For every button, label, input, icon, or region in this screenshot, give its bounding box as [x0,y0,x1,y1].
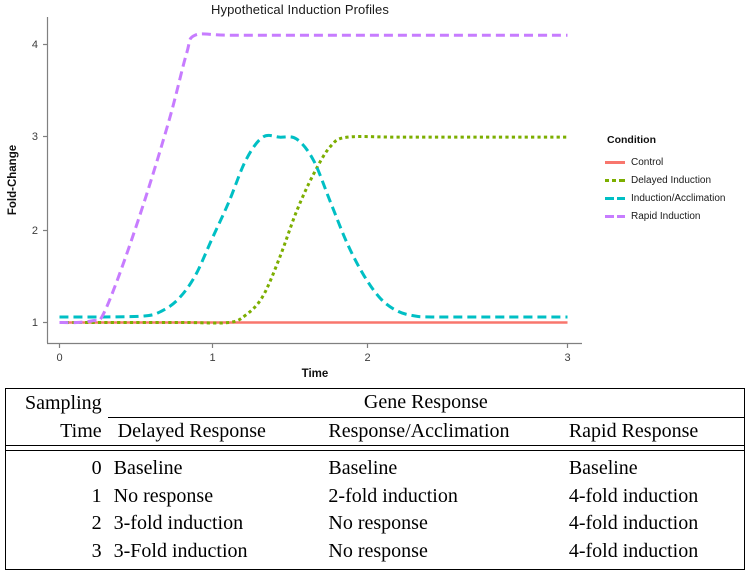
line-chart: 4 3 2 1 0 1 2 3 Time Fold-Change [0,0,600,382]
cell-time: 1 [6,483,108,511]
cell-delayed-response: Baseline [108,451,323,483]
y-tick-label-2: 2 [32,225,38,237]
table-row: 1 No response 2-fold induction 4-fold in… [6,483,745,511]
table-header-row-top: Sampling Gene Response [6,389,745,418]
series-line-rapid-induction [60,34,568,323]
cell-response-acclimation: No response [322,510,562,538]
legend-label-rapid-induction: Rapid Induction [631,211,701,222]
figure-panel: Hypothetical Induction Profiles 4 3 2 1 … [0,0,750,382]
gene-response-table: Sampling Gene Response Time Delayed Resp… [5,388,745,570]
series-line-delayed-induction [60,136,568,323]
y-tick-label-1: 1 [32,317,38,329]
series-layer [60,34,568,323]
table-row: 2 3-fold induction No response 4-fold in… [6,510,745,538]
column-header-rapid-response: Rapid Response [563,417,745,446]
x-tick-label-0: 0 [56,352,62,364]
cell-time: 2 [6,510,108,538]
column-header-delayed-response: Delayed Response [108,417,323,446]
legend-key-induction-acclimation-icon [604,191,626,205]
legend-item-rapid-induction[interactable]: Rapid Induction [604,207,750,225]
cell-time: 3 [6,538,108,569]
legend-title: Condition [607,134,750,146]
cell-rapid-response: 4-fold induction [563,538,745,569]
legend-key-delayed-induction-icon [604,173,626,187]
cell-response-acclimation: 2-fold induction [322,483,562,511]
span-header-gene-response: Gene Response [108,389,745,418]
y-tick-label-3: 3 [32,131,38,143]
x-axis-ticks [60,344,568,348]
legend-item-control[interactable]: Control [604,153,750,171]
table-header-row-sub: Time Delayed Response Response/Acclimati… [6,417,745,446]
legend-label-induction-acclimation: Induction/Acclimation [631,193,726,204]
x-tick-label-3: 3 [564,352,570,364]
cell-rapid-response: 4-fold induction [563,483,745,511]
x-tick-label-2: 2 [364,352,370,364]
table-row: 0 Baseline Baseline Baseline [6,451,745,483]
column-header-response-acclimation: Response/Acclimation [322,417,562,446]
legend-label-delayed-induction: Delayed Induction [631,175,711,186]
table-row: 3 3-Fold induction No response 4-fold in… [6,538,745,569]
y-tick-label-4: 4 [32,39,38,51]
cell-delayed-response: 3-fold induction [108,510,323,538]
corner-header-sampling: Sampling [6,389,108,418]
y-axis-ticks [43,45,47,323]
cell-response-acclimation: Baseline [322,451,562,483]
gene-response-table-wrap: Sampling Gene Response Time Delayed Resp… [5,388,745,570]
cell-delayed-response: 3-Fold induction [108,538,323,569]
legend: Condition Control Delayed Induction Indu… [604,134,750,225]
corner-header-time: Time [6,417,108,446]
legend-label-control: Control [631,157,663,168]
cell-response-acclimation: No response [322,538,562,569]
cell-rapid-response: 4-fold induction [563,510,745,538]
x-axis-title: Time [302,368,329,380]
legend-item-delayed-induction[interactable]: Delayed Induction [604,171,750,189]
cell-rapid-response: Baseline [563,451,745,483]
legend-key-rapid-induction-icon [604,209,626,223]
cell-delayed-response: No response [108,483,323,511]
legend-key-control-icon [604,155,626,169]
y-axis-title: Fold-Change [7,145,19,215]
cell-time: 0 [6,451,108,483]
x-tick-label-1: 1 [209,352,215,364]
legend-item-induction-acclimation[interactable]: Induction/Acclimation [604,189,750,207]
